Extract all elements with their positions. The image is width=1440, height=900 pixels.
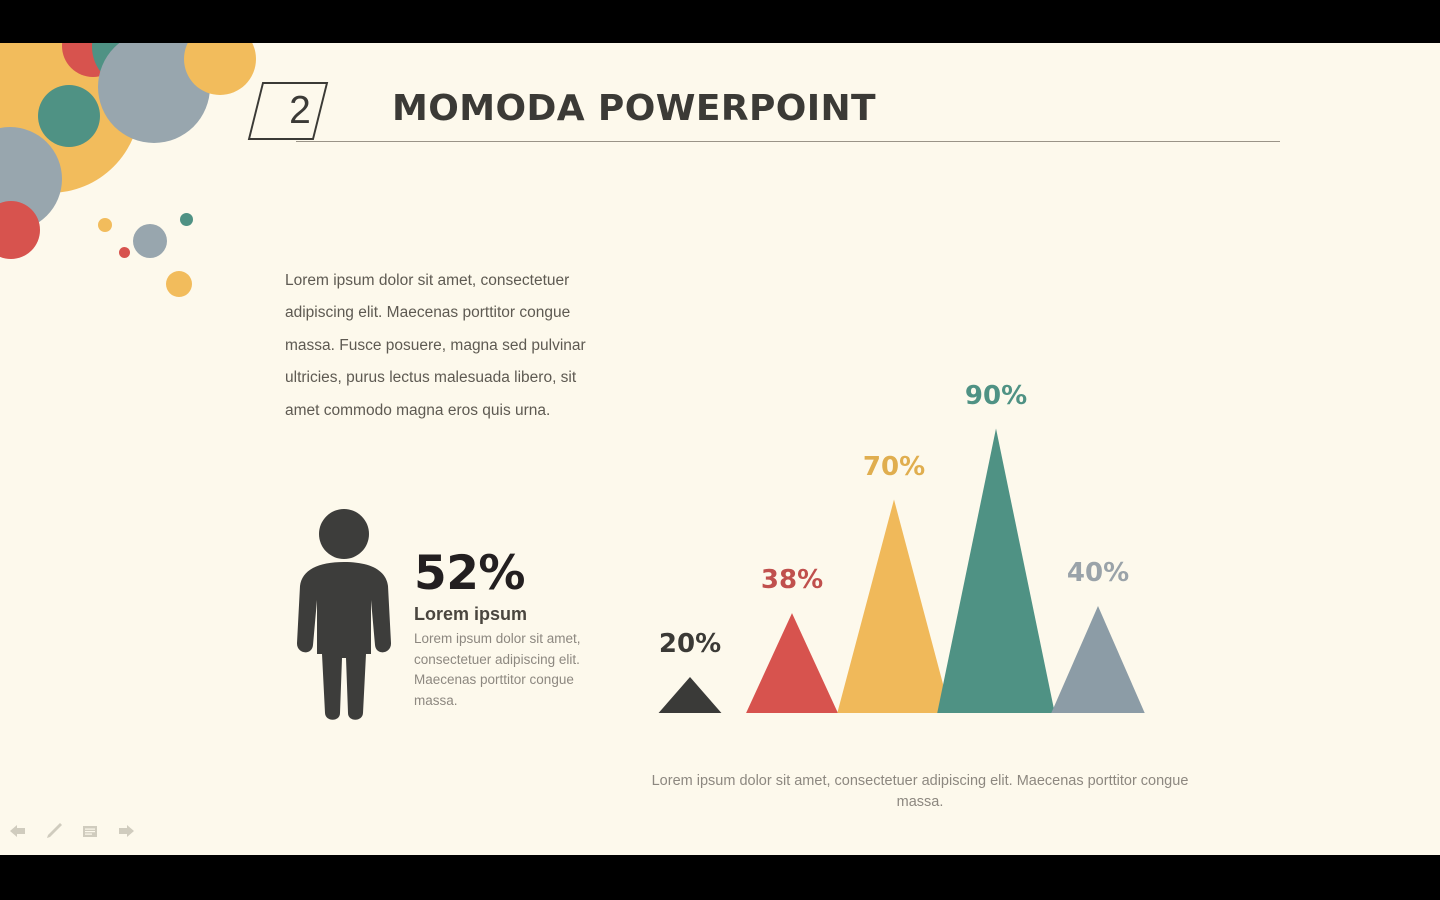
chart-value-label: 40% — [1067, 558, 1129, 588]
chart-value-label: 20% — [659, 629, 721, 659]
circle-red-bottom-left — [0, 201, 40, 259]
circle-yellow-dot — [98, 218, 112, 232]
page-title: MOMODA POWERPOINT — [392, 88, 876, 129]
stat-description: Lorem ipsum dolor sit amet, consectetuer… — [414, 629, 614, 711]
forward-arrow-icon[interactable] — [116, 821, 136, 841]
body-paragraph: Lorem ipsum dolor sit amet, consectetuer… — [285, 265, 605, 427]
chart-triangle — [730, 613, 854, 713]
presentation-stage: 2 MOMODA POWERPOINT Lorem ipsum dolor si… — [0, 0, 1440, 900]
slide-canvas: 2 MOMODA POWERPOINT Lorem ipsum dolor si… — [0, 43, 1440, 855]
circle-red-dot — [119, 247, 130, 258]
circle-teal-dot — [180, 213, 193, 226]
chart-caption: Lorem ipsum dolor sit amet, consectetuer… — [645, 771, 1195, 813]
letterbox-bar-bottom — [0, 855, 1440, 900]
chart-triangle — [628, 677, 752, 713]
chart-triangle — [828, 500, 960, 714]
pen-icon[interactable] — [44, 821, 64, 841]
circle-gray-mid-small — [133, 224, 167, 258]
chart-triangle — [1036, 606, 1160, 713]
menu-icon[interactable] — [80, 821, 100, 841]
triangle-chart: 20%38%70%90%40% — [620, 313, 1200, 713]
circle-yellow-bottom — [166, 271, 192, 297]
slide-header: 2 MOMODA POWERPOINT — [0, 43, 1440, 153]
letterbox-bar-top — [0, 0, 1440, 43]
person-icon — [294, 508, 394, 723]
chart-value-label: 38% — [761, 565, 823, 595]
back-arrow-icon[interactable] — [8, 821, 28, 841]
chart-triangle — [930, 429, 1062, 714]
slideshow-toolbar[interactable] — [8, 821, 136, 841]
title-divider — [296, 141, 1280, 142]
stat-percentage: 52% — [414, 546, 525, 601]
slide-number-text: 2 — [272, 83, 328, 139]
chart-value-label: 70% — [863, 452, 925, 482]
chart-value-label: 90% — [965, 381, 1027, 411]
stat-heading: Lorem ipsum — [414, 604, 527, 625]
